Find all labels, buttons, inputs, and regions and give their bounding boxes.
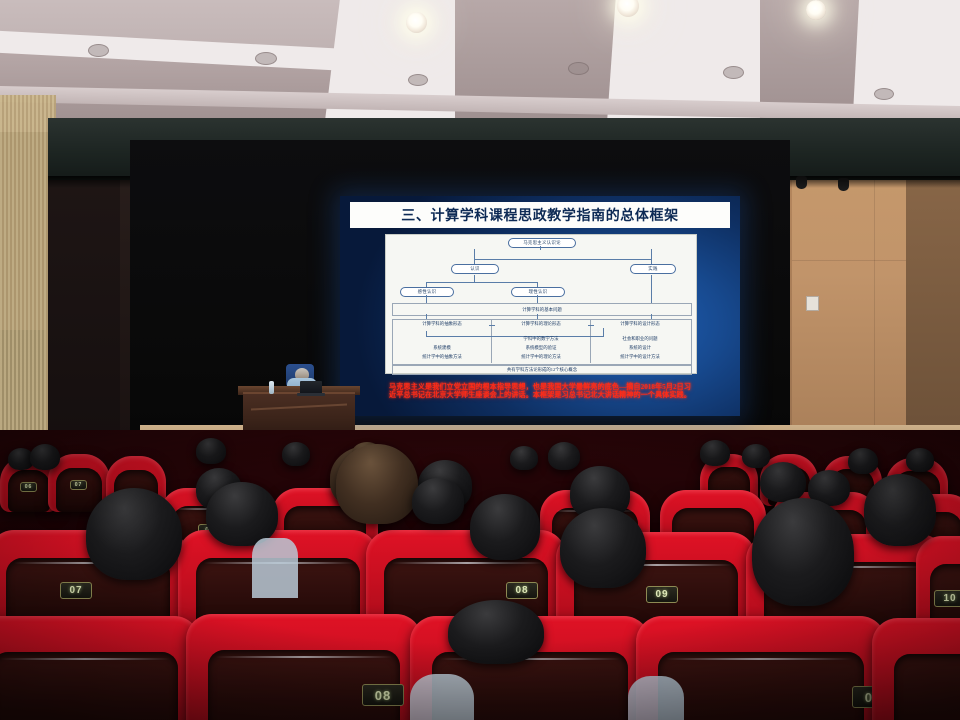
speaker-laptop xyxy=(300,381,322,394)
diagram-arrow xyxy=(588,325,594,326)
audience-shoulder xyxy=(252,538,298,598)
diagram-col1-item-1: 系统建模 xyxy=(396,345,488,351)
diagram-connector xyxy=(426,282,538,283)
diagram-node-cognition: 认识 xyxy=(451,264,499,274)
water-bottle xyxy=(269,381,274,394)
diagram-col2-item-3: 统计学中的理论方法 xyxy=(495,354,587,360)
audience-head xyxy=(206,482,278,546)
audience-seating: 06 07 xyxy=(0,430,960,720)
diagram-band-basic-questions: 计算学科的基本问题 xyxy=(392,303,692,316)
seat-number-plaque: 08 xyxy=(362,684,404,706)
diagram-col2-title: 计算学科的理论形态 xyxy=(495,321,587,327)
seat-row-front[interactable]: 08 xyxy=(186,614,422,720)
seat-number-plaque: 07 xyxy=(70,480,87,490)
seat-number-plaque: 06 xyxy=(20,482,37,492)
diagram-connector xyxy=(426,295,427,303)
audience-head-bun xyxy=(336,444,418,524)
audience-head xyxy=(448,600,544,664)
ceiling-light-3 xyxy=(806,0,826,20)
diagram-footer-band: 共有学科方法论形成的12个核心概念 xyxy=(392,365,692,375)
stage-spotlight-2 xyxy=(838,178,849,191)
diagram-col1-title: 计算学科的抽象形态 xyxy=(396,321,488,327)
red-banner-line-1: 马克思主义是我们立党立国的根本指导思想，也是我国大学最鲜亮的底色—摘自2018年… xyxy=(389,383,691,391)
diagram-connector xyxy=(651,249,652,259)
audience-head xyxy=(282,442,310,466)
projection-screen: 三、计算学科课程思政教学指南的总体框架 马克思主义认识论 认识 实践 感性认识 … xyxy=(340,196,740,416)
diagram-node-practice: 实践 xyxy=(630,264,676,274)
seat-row-front[interactable] xyxy=(872,618,960,720)
seat-row-front[interactable] xyxy=(0,616,200,720)
slide-title-bar: 三、计算学科课程思政教学指南的总体框架 xyxy=(350,202,730,228)
stage-spotlight-1 xyxy=(796,176,807,189)
diagram-connector xyxy=(474,259,652,260)
seat-number-plaque: 08 xyxy=(506,582,538,599)
red-banner-line-2: 近平总书记在北京大学师生座谈会上的讲话。本框架是习总书记北大讲话精神的一个具体实… xyxy=(389,391,691,399)
audience-garment xyxy=(628,676,684,720)
audience-head xyxy=(560,508,646,588)
ceiling-fixture-2 xyxy=(255,52,277,65)
seat-number-plaque: 07 xyxy=(60,582,92,599)
audience-head xyxy=(700,440,730,466)
audience-head xyxy=(196,438,226,464)
slide-red-banner: 马克思主义是我们立党立国的根本指导思想，也是我国大学最鲜亮的底色—摘自2018年… xyxy=(350,378,730,404)
diagram-col3-item-3: 统计学中的设计方法 xyxy=(594,354,686,360)
ceiling-fixture-6 xyxy=(874,88,894,100)
diagram-col2-item-2: 系统模型的验证 xyxy=(495,345,587,351)
audience-head xyxy=(742,444,770,468)
seat-number-plaque: 10 xyxy=(934,590,960,607)
audience-head xyxy=(86,488,182,580)
diagram-connector xyxy=(651,275,652,303)
wall-switch-plate[interactable] xyxy=(806,296,819,311)
diagram-connector xyxy=(537,295,538,303)
ceiling-fixture-3 xyxy=(408,74,428,86)
diagram-col3-title: 计算学科的设计形态 xyxy=(594,321,686,327)
diagram-node-root: 马克思主义认识论 xyxy=(508,238,576,248)
audience-head xyxy=(864,474,936,546)
diagram-col3-item-2: 系统的设计 xyxy=(594,345,686,351)
seat-number-plaque: 09 xyxy=(646,586,678,603)
audience-head xyxy=(848,448,878,474)
slide-diagram: 马克思主义认识论 认识 实践 感性认识 理性认识 计算学科的基本问题 xyxy=(385,234,697,374)
audience-head xyxy=(30,444,60,470)
ceiling-fixture-4 xyxy=(568,62,589,75)
diagram-connector xyxy=(540,246,541,250)
audience-head xyxy=(510,446,538,470)
ceiling-panel-1 xyxy=(319,0,471,132)
ceiling-light-1 xyxy=(406,12,427,33)
ceiling xyxy=(0,0,960,132)
audience-head xyxy=(752,498,854,606)
audience-head xyxy=(548,442,580,470)
slide-title: 三、计算学科课程思政教学指南的总体框架 xyxy=(401,205,678,225)
diagram-arrow xyxy=(489,325,495,326)
diagram-node-rational: 理性认识 xyxy=(511,287,565,297)
audience-head xyxy=(412,478,464,524)
diagram-node-perceptual: 感性认识 xyxy=(400,287,454,297)
ceiling-fixture-1 xyxy=(88,44,109,57)
audience-head xyxy=(906,448,934,472)
audience-garment xyxy=(410,674,474,720)
audience-head xyxy=(470,494,540,560)
diagram-connector xyxy=(474,275,475,283)
diagram-col1-item-2: 统计学中的抽象方法 xyxy=(396,354,488,360)
diagram-connector xyxy=(474,249,475,259)
audience-head xyxy=(760,462,806,502)
auditorium-photo: 三、计算学科课程思政教学指南的总体框架 马克思主义认识论 认识 实践 感性认识 … xyxy=(0,0,960,720)
diagram-col2-item-1: 学科中的数学方法 xyxy=(495,336,587,342)
ceiling-fixture-5 xyxy=(723,66,744,79)
diagram-col3-item-1: 社会和职业的问题 xyxy=(594,336,686,342)
